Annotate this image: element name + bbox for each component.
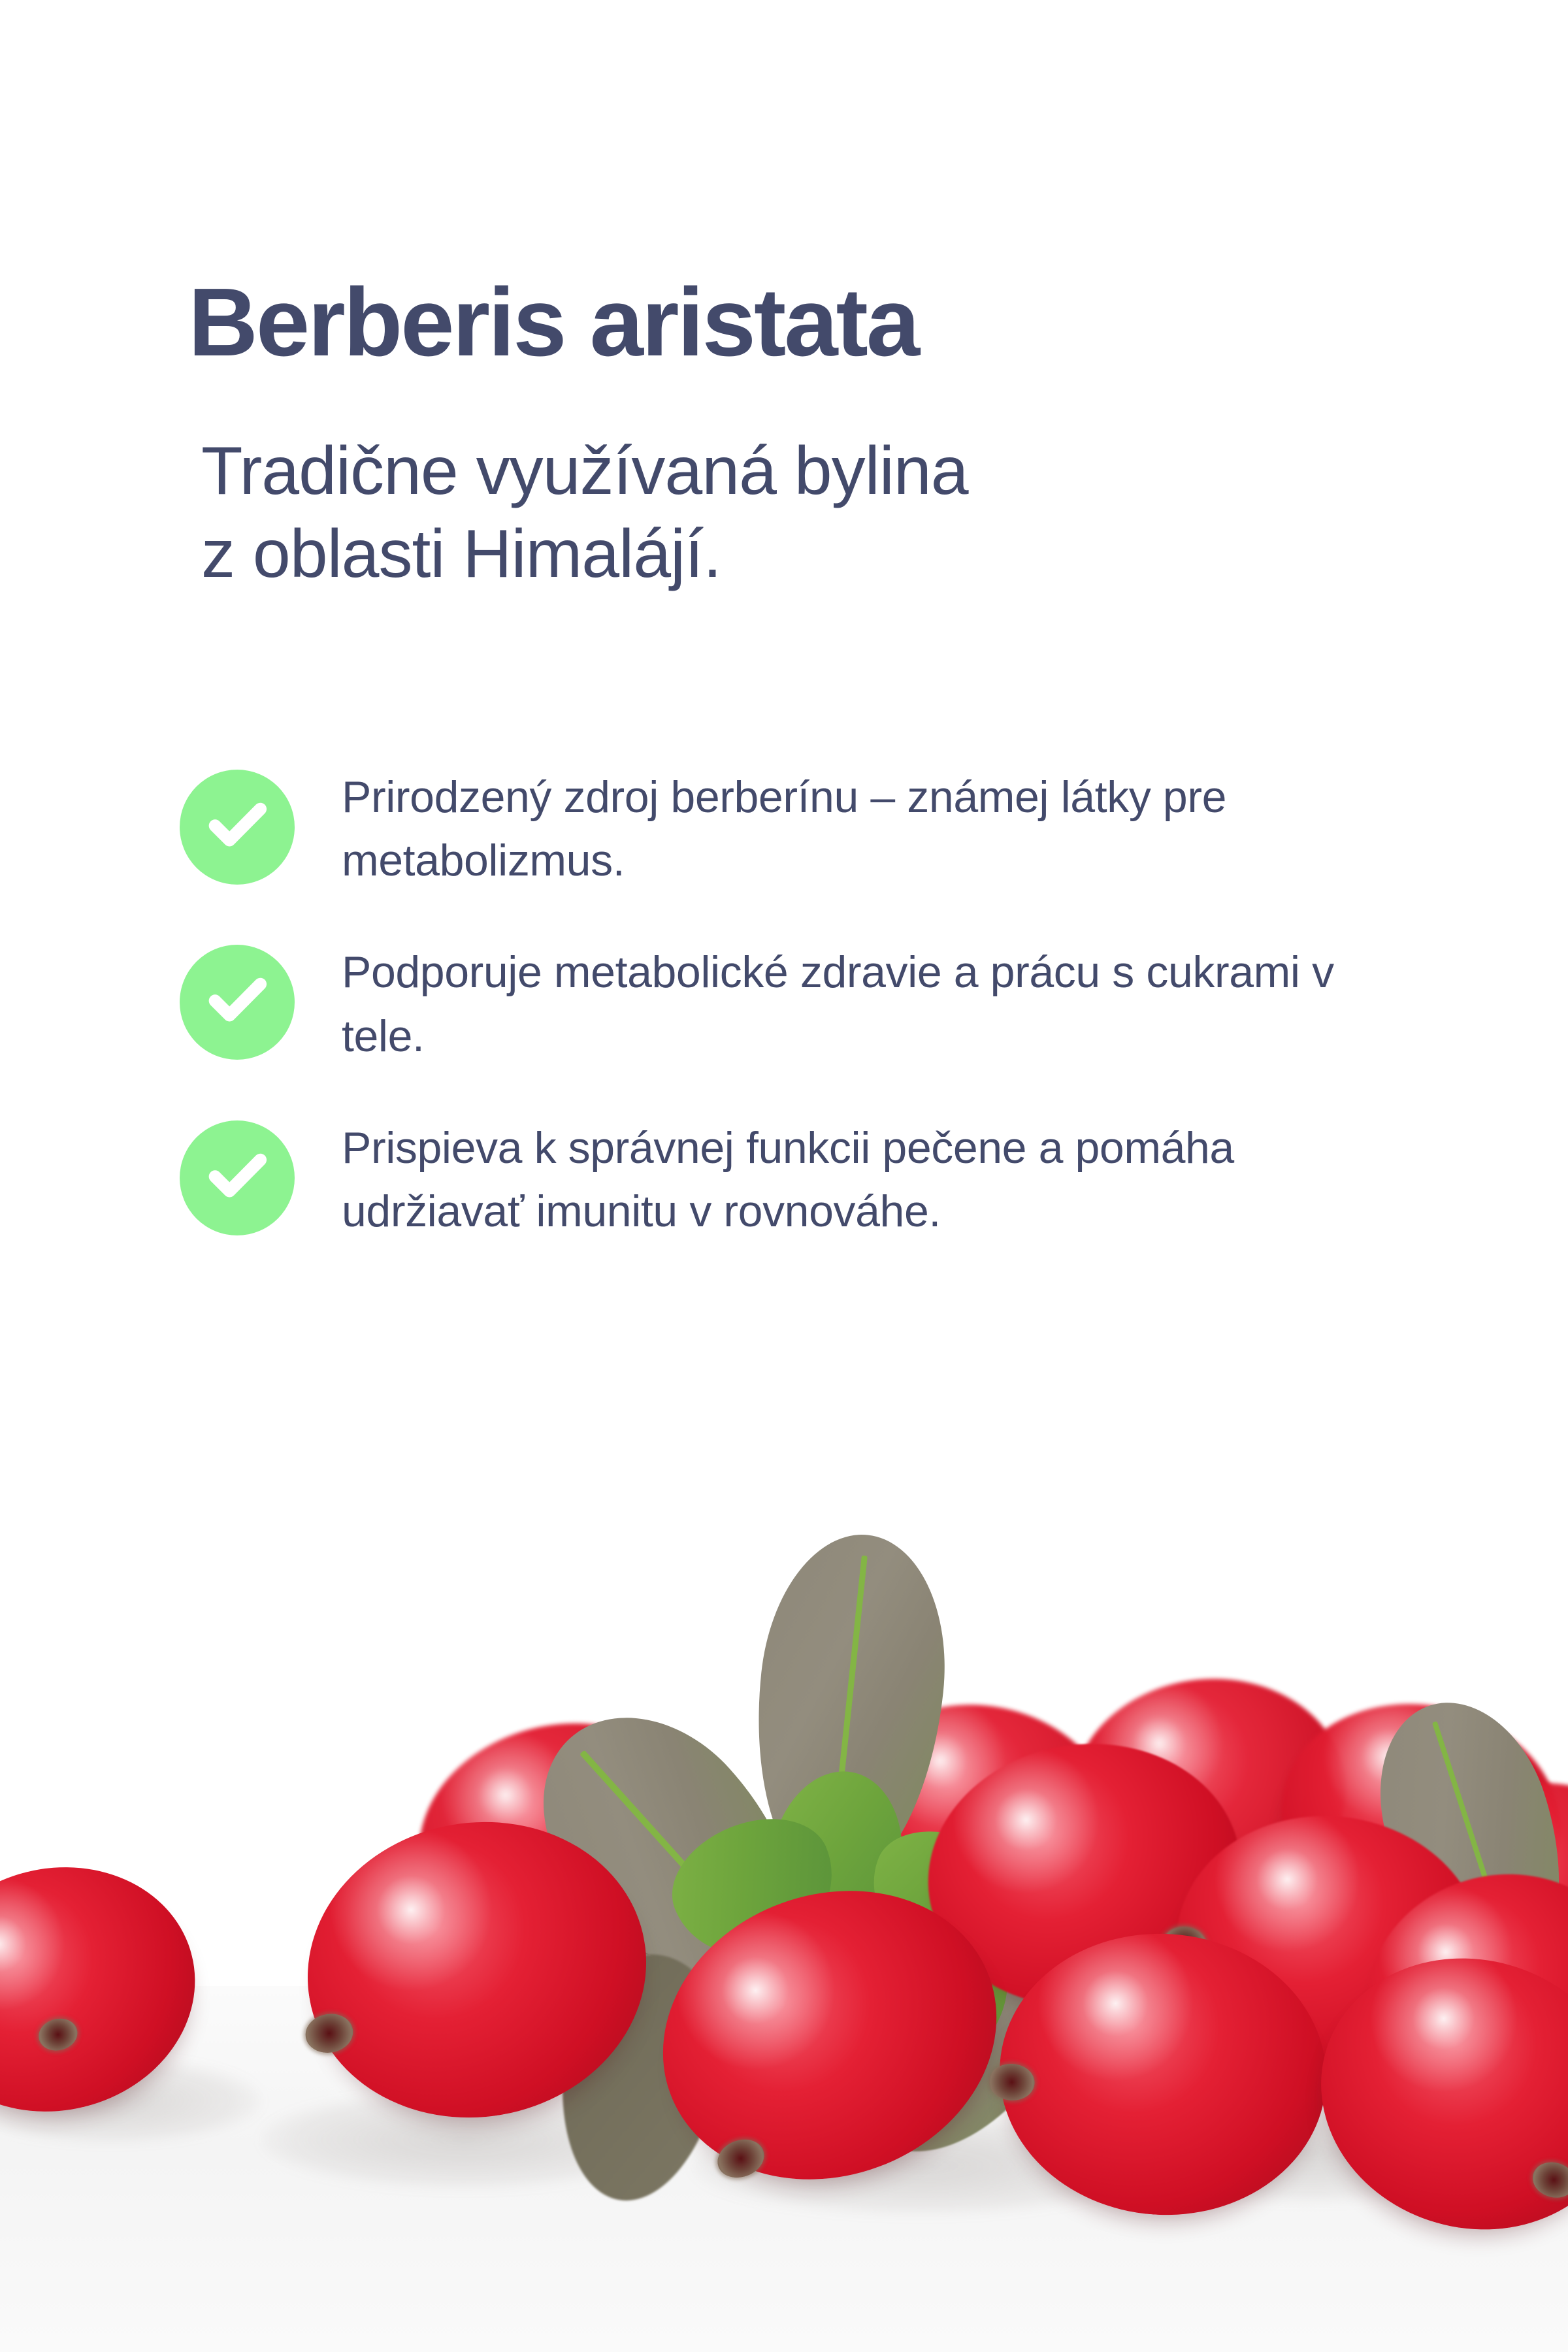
check-circle-icon — [180, 1120, 295, 1235]
page-subtitle: Tradične využívaná bylina z oblasti Hima… — [201, 430, 968, 596]
list-item: Podporuje metabolické zdravie a prácu s … — [0, 933, 1568, 1068]
check-circle-icon — [180, 770, 295, 885]
list-item: Prispieva k správnej funkcii pečene a po… — [0, 1109, 1568, 1243]
berberis-berries-photo — [0, 1418, 1568, 2352]
check-circle-icon — [180, 945, 295, 1060]
benefits-list: Prirodzený zdroj berberínu – známej látk… — [0, 758, 1568, 1284]
page-title: Berberis aristata — [188, 274, 918, 371]
list-item: Prirodzený zdroj berberínu – známej látk… — [0, 758, 1568, 892]
berry-stem-nub — [35, 2015, 81, 2055]
benefit-text: Prirodzený zdroj berberínu – známej látk… — [342, 758, 1407, 892]
subtitle-line-1: Tradične využívaná bylina — [201, 430, 968, 513]
berry-stem-nub — [1529, 2157, 1568, 2202]
benefit-text: Prispieva k správnej funkcii pečene a po… — [342, 1109, 1407, 1243]
subtitle-line-2: z oblasti Himalájí. — [201, 513, 968, 596]
benefit-text: Podporuje metabolické zdravie a prácu s … — [342, 933, 1407, 1068]
